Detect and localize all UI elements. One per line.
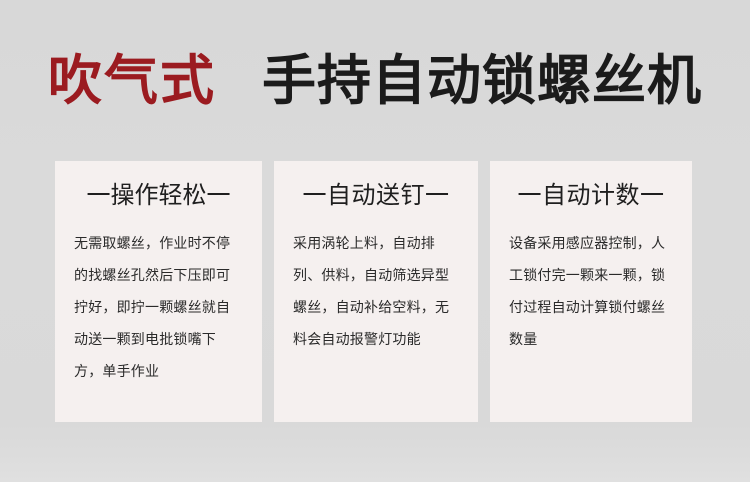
feature-card-auto-feed: 一自动送钉一 采用涡轮上料，自动排列、供料，自动筛选异型螺丝，自动补给空料，无料… — [274, 161, 478, 422]
feature-card-heading: 一自动送钉一 — [293, 179, 459, 213]
feature-card-body: 无需取螺丝，作业时不停的找螺丝孔然后下压即可拧好，即拧一颗螺丝就自动送一颗到电批… — [74, 227, 243, 387]
page-title-accent: 吹气式 — [48, 51, 216, 111]
page-title: 吹气式 手持自动锁螺丝机 — [0, 44, 750, 118]
feature-card-heading: 一操作轻松一 — [74, 179, 243, 213]
feature-card-heading: 一自动计数一 — [509, 179, 673, 213]
product-feature-banner: 吹气式 手持自动锁螺丝机 一操作轻松一 无需取螺丝，作业时不停的找螺丝孔然后下压… — [0, 0, 750, 482]
page-title-main: 手持自动锁螺丝机 — [262, 51, 702, 111]
feature-card-operation: 一操作轻松一 无需取螺丝，作业时不停的找螺丝孔然后下压即可拧好，即拧一颗螺丝就自… — [55, 161, 262, 422]
feature-card-body: 采用涡轮上料，自动排列、供料，自动筛选异型螺丝，自动补给空料，无料会自动报警灯功… — [293, 227, 459, 355]
feature-card-body: 设备采用感应器控制，人工锁付完一颗来一颗，锁付过程自动计算锁付螺丝数量 — [509, 227, 673, 355]
feature-card-auto-count: 一自动计数一 设备采用感应器控制，人工锁付完一颗来一颗，锁付过程自动计算锁付螺丝… — [490, 161, 692, 422]
feature-card-row: 一操作轻松一 无需取螺丝，作业时不停的找螺丝孔然后下压即可拧好，即拧一颗螺丝就自… — [55, 161, 692, 422]
